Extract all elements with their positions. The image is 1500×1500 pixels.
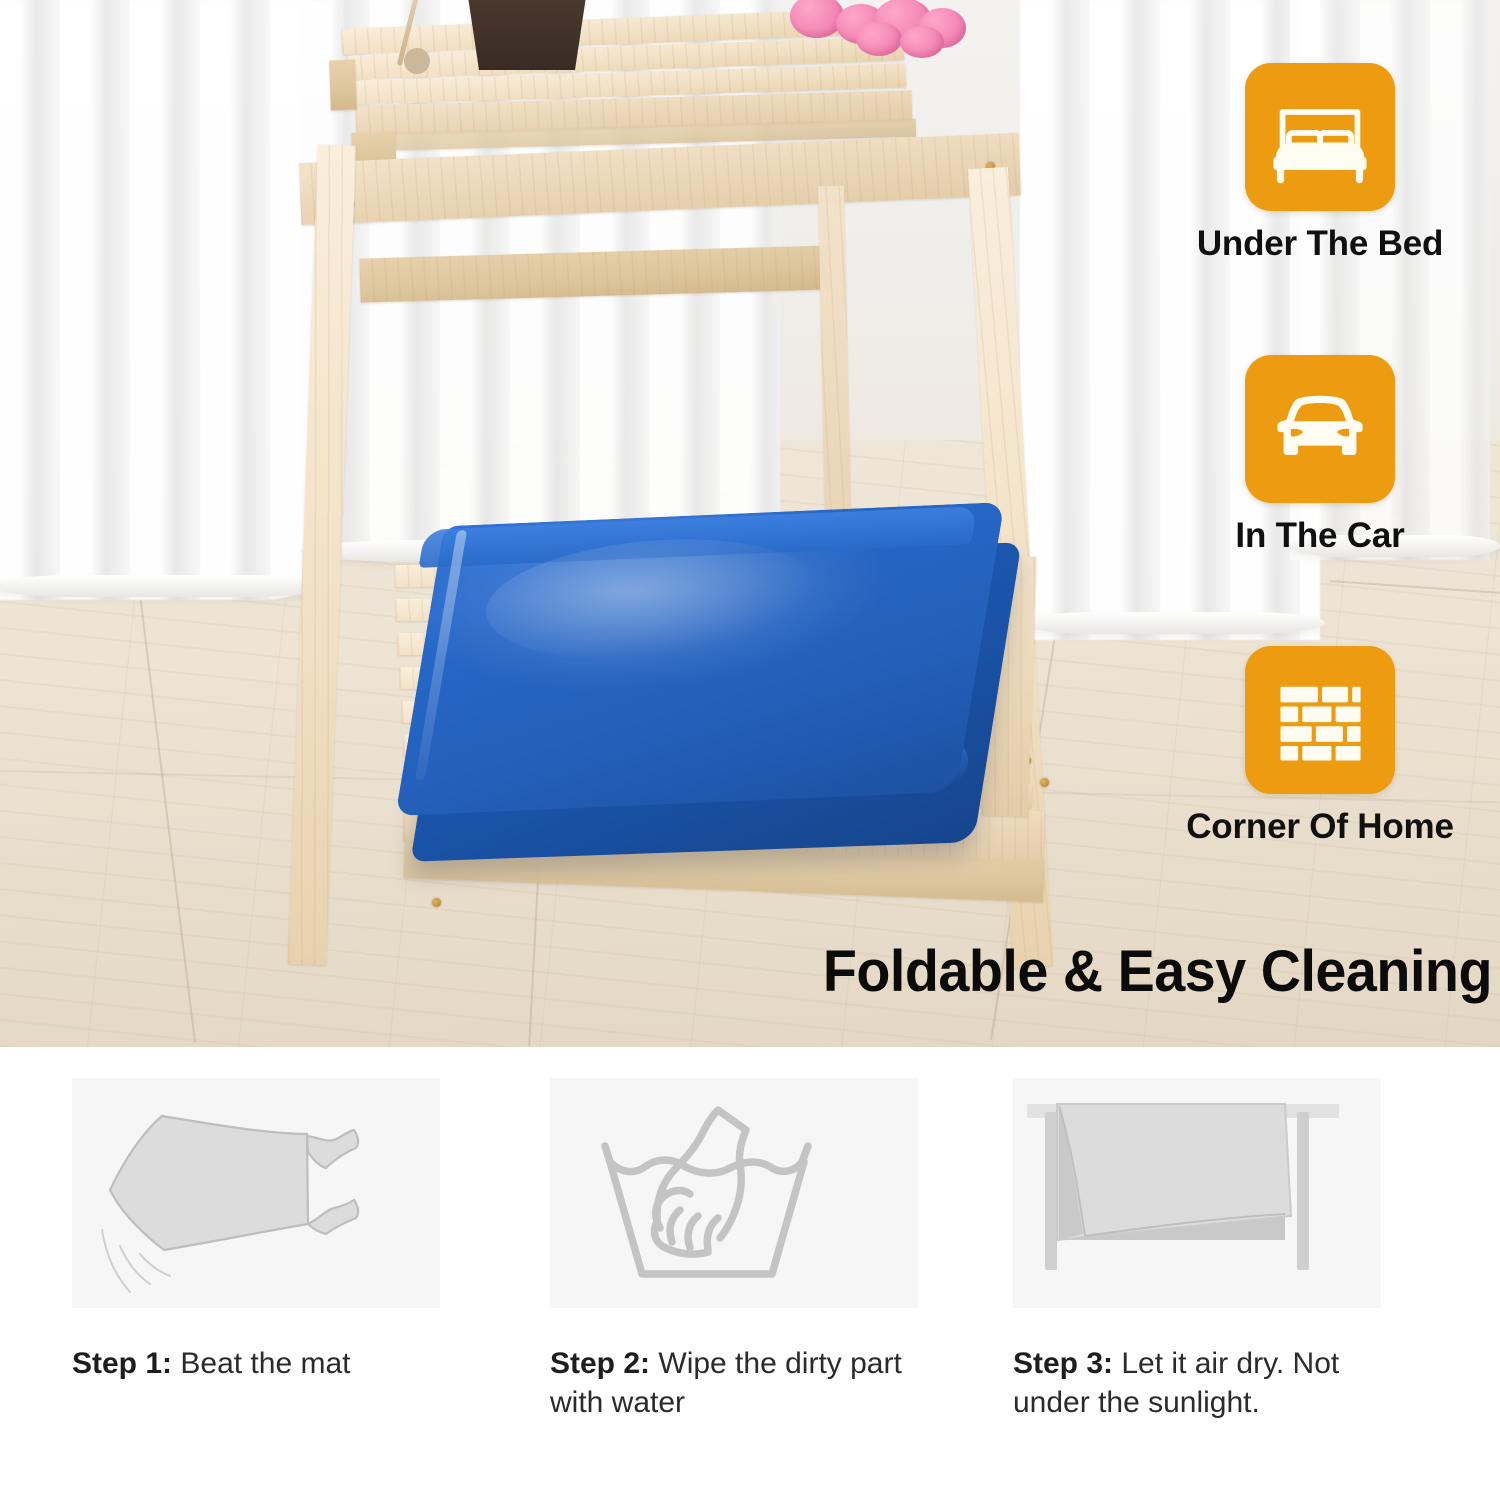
step-1-text: Beat the mat	[180, 1347, 350, 1380]
step-1-illustration-card	[72, 1078, 440, 1308]
rack-cross-brace	[359, 245, 830, 302]
step-2-label: Step 2:	[550, 1347, 650, 1380]
screw	[432, 898, 441, 907]
mat-hanging-to-dry-icon	[1013, 1078, 1381, 1308]
step-2: Step 2: Wipe the dirty part with water	[550, 1078, 950, 1422]
step-3-illustration-card	[1013, 1078, 1381, 1308]
bed-icon	[1268, 85, 1372, 189]
bed-icon-tile	[1245, 63, 1395, 211]
screw	[1040, 778, 1049, 787]
feature-label: In The Car	[1140, 517, 1500, 556]
care-steps-section: Step 1: Beat the mat	[0, 1047, 1500, 1500]
blue-folded-mat	[418, 500, 1018, 860]
car-icon	[1268, 377, 1372, 481]
feature-corner-of-home[interactable]: Corner Of Home	[1140, 646, 1500, 847]
step-2-illustration-card	[550, 1078, 918, 1308]
feature-under-the-bed[interactable]: Under The Bed	[1140, 63, 1500, 264]
feature-list: Under The Bed In T	[1140, 0, 1500, 900]
pot-tag	[404, 48, 430, 74]
hand-wash-basin-icon	[550, 1078, 918, 1308]
feature-in-the-car[interactable]: In The Car	[1140, 355, 1500, 556]
rope-toy-knot	[856, 22, 902, 56]
step-1-caption: Step 1: Beat the mat	[72, 1344, 472, 1383]
brick-wall-icon	[1268, 668, 1372, 772]
product-infographic: Under The Bed In T	[0, 0, 1500, 1500]
mat-being-shaken-icon	[72, 1078, 440, 1308]
step-3: Step 3: Let it air dry. Not under the su…	[1013, 1078, 1413, 1422]
feature-label: Under The Bed	[1140, 225, 1500, 264]
hero-headline: Foldable & Easy Cleaning	[786, 938, 1492, 1005]
shelf-cleat	[329, 60, 357, 111]
step-3-caption: Step 3: Let it air dry. Not under the su…	[1013, 1344, 1413, 1422]
rack-leg-left	[288, 144, 356, 965]
step-1-label: Step 1:	[72, 1347, 172, 1380]
step-3-label: Step 3:	[1013, 1347, 1113, 1380]
step-1: Step 1: Beat the mat	[72, 1078, 472, 1383]
rope-toy-knot	[900, 26, 944, 58]
feature-label: Corner Of Home	[1140, 808, 1500, 847]
step-2-caption: Step 2: Wipe the dirty part with water	[550, 1344, 950, 1422]
hero-photo: Under The Bed In T	[0, 0, 1500, 1047]
car-icon-tile	[1245, 355, 1395, 503]
brick-wall-icon-tile	[1245, 646, 1395, 794]
